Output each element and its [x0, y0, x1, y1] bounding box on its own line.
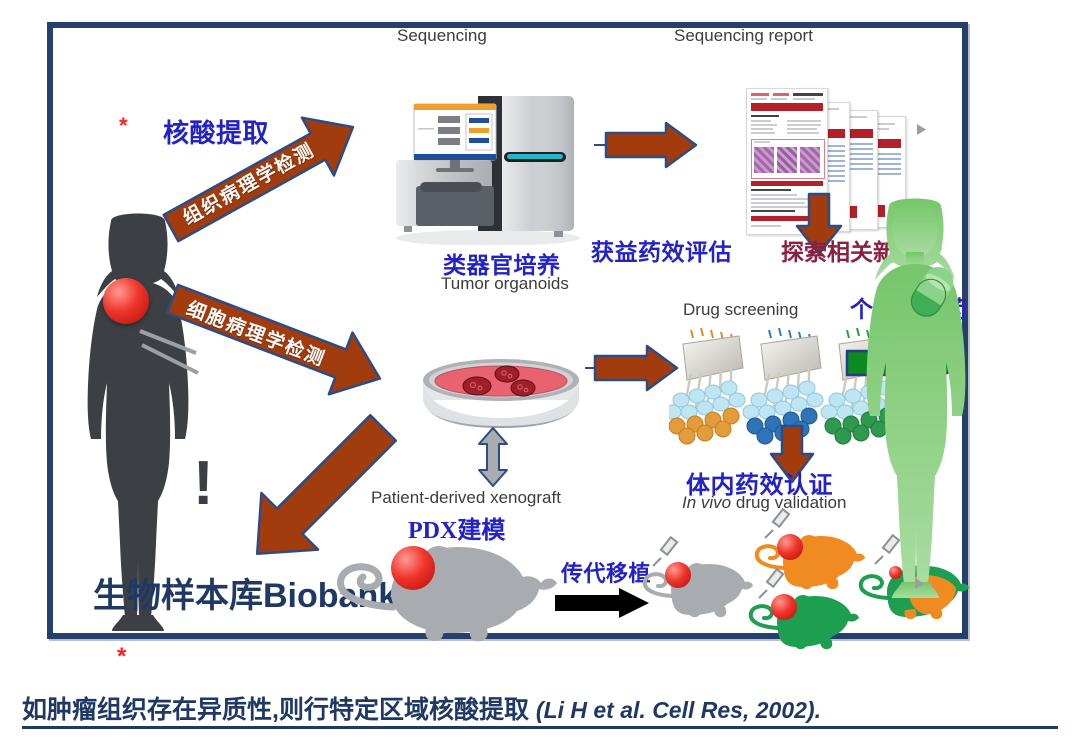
- figure-caption: 如肿瘤组织存在异质性,则行特定区域核酸提取 (Li H et al. Cell …: [22, 690, 1062, 726]
- figure-canvas: * 核酸提取 组织病理学检测 细胞病理学检测: [0, 0, 1080, 745]
- petri-dish-organoids: [419, 356, 584, 428]
- caption-reference: (Li H et al. Cell Res, 2002).: [536, 697, 821, 723]
- syringe-icon-green: [757, 568, 791, 600]
- arrow-cytopathology: [173, 266, 423, 396]
- arrow-passage-transplant: [555, 588, 651, 618]
- syringe-icon-orange: [763, 508, 797, 540]
- diagram-panel: * 核酸提取 组织病理学检测 细胞病理学检测: [47, 22, 968, 639]
- arrow-pdx-bidirectional: [473, 426, 513, 488]
- asterisk-caption: *: [117, 645, 126, 669]
- label-passage-transplant: 传代移植: [561, 556, 651, 588]
- tumor-marker-mouse-large: [391, 546, 435, 590]
- label-benefit-efficacy: 获益药效评估: [591, 233, 732, 267]
- label-organoid-en: Tumor organoids: [441, 274, 569, 294]
- exclamation-mark: !: [193, 453, 214, 515]
- play-triangle-icon-bottom[interactable]: [913, 577, 926, 590]
- arrow-sequencer-to-report: [588, 121, 700, 169]
- mouse-pdx-large: [331, 533, 561, 643]
- patient-silhouette-green: [851, 198, 979, 598]
- label-sequencing-report: Sequencing report: [674, 26, 813, 46]
- sequencer-illustration: [378, 90, 588, 245]
- label-drug-screening: Drug screening: [683, 300, 798, 320]
- caption-underline: [22, 726, 1058, 729]
- label-pdx-en: Patient-derived xenograft: [371, 488, 561, 508]
- asterisk-nucleic-acid: *: [119, 115, 128, 137]
- label-sequencing: Sequencing: [397, 26, 487, 46]
- arrow-organoid-to-screening: [581, 344, 681, 392]
- label-in-vivo-en-italic: In vivo: [682, 493, 731, 512]
- caption-text: 如肿瘤组织存在异质性,则行特定区域核酸提取: [22, 696, 529, 724]
- syringe-icon-gray: [651, 536, 685, 568]
- play-triangle-icon-top[interactable]: [915, 123, 928, 136]
- tumor-marker-patient: [103, 278, 149, 324]
